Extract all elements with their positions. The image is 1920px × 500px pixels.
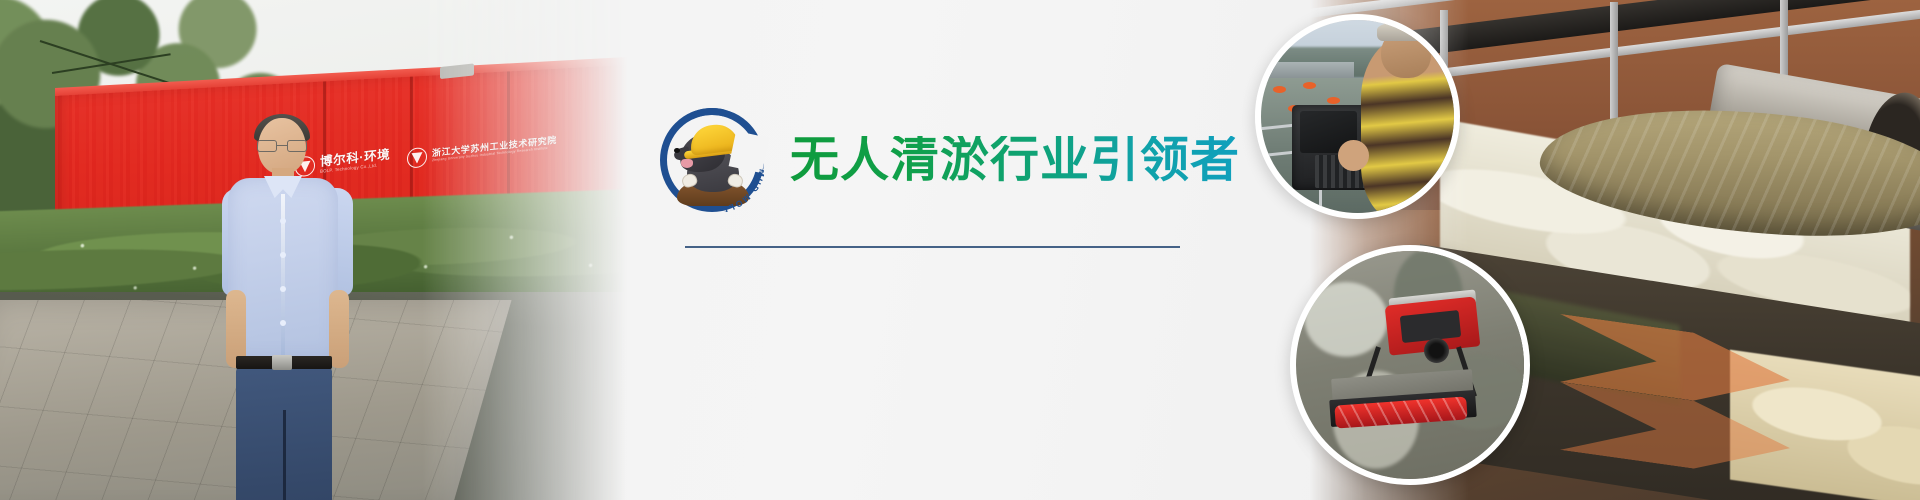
logo-arc-text: MUD MOLE xyxy=(660,108,764,212)
jeans xyxy=(236,366,332,500)
shirt-button xyxy=(280,320,286,326)
shirt-button xyxy=(280,252,286,258)
operator-cap xyxy=(1377,22,1435,41)
svg-text:MUD MOLE: MUD MOLE xyxy=(719,168,764,212)
left-photo-engineer-container: 博尔科·环境 BOLP. Technology Co.,Ltd. 浙江大学苏州工… xyxy=(0,0,640,500)
mud-mole-logo: MUD MOLE xyxy=(660,108,764,212)
orange-float xyxy=(1303,82,1316,89)
right-forearm xyxy=(329,290,349,368)
right-photo-collage xyxy=(1230,0,1920,500)
logo-arc-label: MUD MOLE xyxy=(719,168,764,212)
engineer-figure xyxy=(220,118,355,500)
center-headline-block: MUD MOLE 无人清淤行业引领者 xyxy=(640,0,1260,500)
wet-silt-texture xyxy=(1296,251,1524,479)
belt-buckle xyxy=(272,355,292,370)
inset-photo-dredging-robot xyxy=(1290,245,1530,485)
inset-photo-operator xyxy=(1255,14,1460,219)
university-seal-icon xyxy=(407,147,427,169)
headline-divider xyxy=(685,246,1180,248)
shirt-button xyxy=(280,218,286,224)
hero-banner: 博尔科·环境 BOLP. Technology Co.,Ltd. 浙江大学苏州工… xyxy=(0,0,1920,500)
rail-post xyxy=(1610,2,1618,132)
orange-float xyxy=(1273,86,1286,93)
page-title: 无人清淤行业引领者 xyxy=(790,136,1240,185)
operator-hand xyxy=(1338,140,1369,171)
orange-float xyxy=(1327,97,1340,104)
glasses-icon xyxy=(256,140,308,152)
shirt-button xyxy=(280,286,286,292)
robot-wheel xyxy=(1424,338,1449,363)
